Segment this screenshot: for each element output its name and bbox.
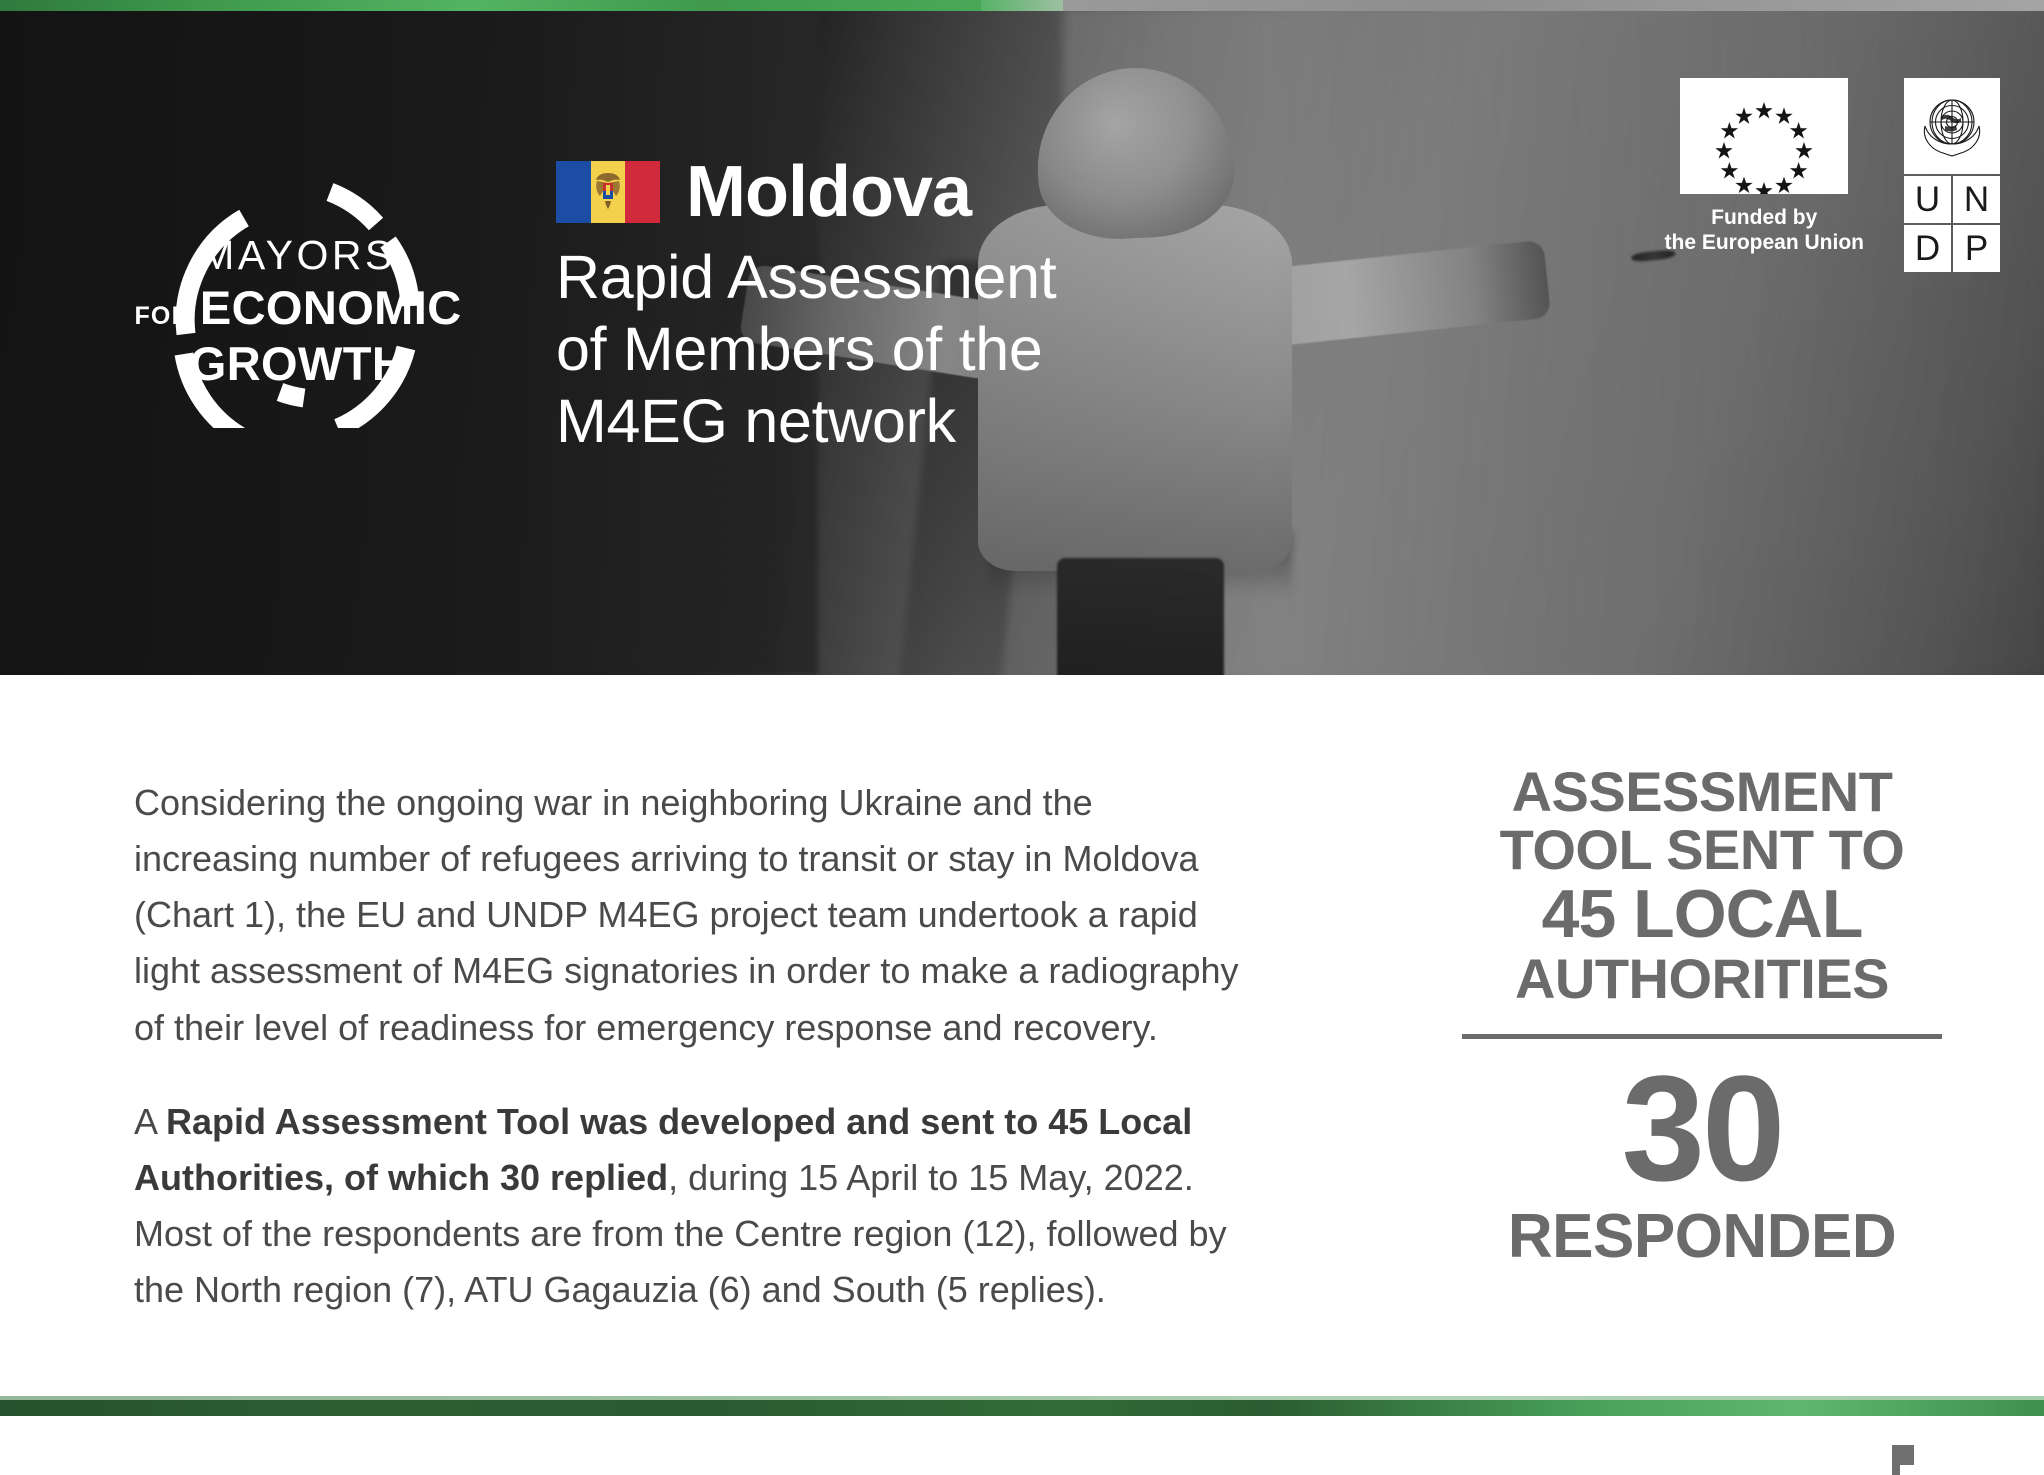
flag-band-red <box>625 161 660 223</box>
hero-subtitle: Rapid Assessment of Members of the M4EG … <box>556 242 1056 458</box>
statistics-panel: ASSESSMENT TOOL SENT TO 45 LOCAL AUTHORI… <box>1462 763 1942 1268</box>
stat-headline-line-2: TOOL SENT TO <box>1462 821 1942 879</box>
undp-letter-grid: U N D P <box>1904 176 2000 272</box>
eu-stars-circle-icon <box>1680 78 1848 194</box>
country-title: Moldova <box>686 156 971 228</box>
m4eg-line-growth: GROWTH <box>190 336 406 391</box>
paragraph-two: A Rapid Assessment Tool was developed an… <box>134 1094 1254 1319</box>
bottom-accent-bar <box>0 1400 2044 1416</box>
top-accent-green-segment <box>0 0 981 11</box>
m4eg-word-for: FOR <box>134 302 190 331</box>
m4eg-word-economic: ECONOMIC <box>200 280 462 335</box>
paragraph-two-lead: A <box>134 1101 166 1142</box>
top-accent-fade-segment <box>981 0 1063 11</box>
stat-headline-line-3: 45 LOCAL <box>1462 879 1942 950</box>
undp-letter-n: N <box>1953 176 2000 223</box>
un-globe-laurel-icon <box>1912 86 1992 166</box>
donor-logos: Funded by the European Union <box>1665 78 2001 272</box>
m4eg-logo: MAYORS FOR ECONOMIC GROWTH <box>148 148 448 428</box>
undp-letter-p: P <box>1953 225 2000 272</box>
stat-responded-label: RESPONDED <box>1462 1206 1942 1268</box>
eu-caption-line-1: Funded by <box>1665 205 1865 230</box>
undp-logo-block: U N D P <box>1904 78 2000 272</box>
undp-letter-u: U <box>1904 176 1951 223</box>
moldova-coat-of-arms-icon <box>591 171 625 213</box>
paragraph-one: Considering the ongoing war in neighbori… <box>134 775 1254 1056</box>
intro-copy: Considering the ongoing war in neighbori… <box>134 775 1254 1318</box>
stat-headline: ASSESSMENT TOOL SENT TO 45 LOCAL AUTHORI… <box>1462 763 1942 1008</box>
country-row: Moldova <box>556 156 1056 228</box>
hero-subtitle-line-1: Rapid Assessment <box>556 242 1056 314</box>
hero-subtitle-line-2: of Members of the <box>556 314 1056 386</box>
stat-responded-number: 30 <box>1462 1057 1942 1200</box>
top-accent-gray-segment <box>1063 0 2044 11</box>
undp-letter-d: D <box>1904 225 1951 272</box>
stat-headline-line-1: ASSESSMENT <box>1462 763 1942 821</box>
eu-funding-caption: Funded by the European Union <box>1665 205 1865 255</box>
m4eg-logo-wordmark: MAYORS FOR ECONOMIC GROWTH <box>148 148 448 428</box>
hero-banner: MAYORS FOR ECONOMIC GROWTH <box>0 8 2044 675</box>
stat-divider <box>1462 1034 1942 1039</box>
eu-caption-line-2: the European Union <box>1665 230 1865 255</box>
hero-title-block: Moldova Rapid Assessment of Members of t… <box>556 156 1056 458</box>
moldova-flag-icon <box>556 161 660 223</box>
m4eg-line-for-economic: FOR ECONOMIC <box>134 280 461 335</box>
stat-headline-line-4: AUTHORITIES <box>1462 950 1942 1008</box>
hero-subtitle-line-3: M4EG network <box>556 386 1056 458</box>
un-emblem-icon <box>1904 78 2000 174</box>
european-union-flag-icon <box>1680 78 1848 194</box>
content-area: Considering the ongoing war in neighbori… <box>0 675 2044 1401</box>
page-corner-mark <box>1892 1445 1914 1465</box>
top-accent-bar <box>0 0 2044 11</box>
eu-logo-block: Funded by the European Union <box>1665 78 1865 255</box>
flag-band-blue <box>556 161 591 223</box>
m4eg-line-mayors: MAYORS <box>200 232 396 279</box>
